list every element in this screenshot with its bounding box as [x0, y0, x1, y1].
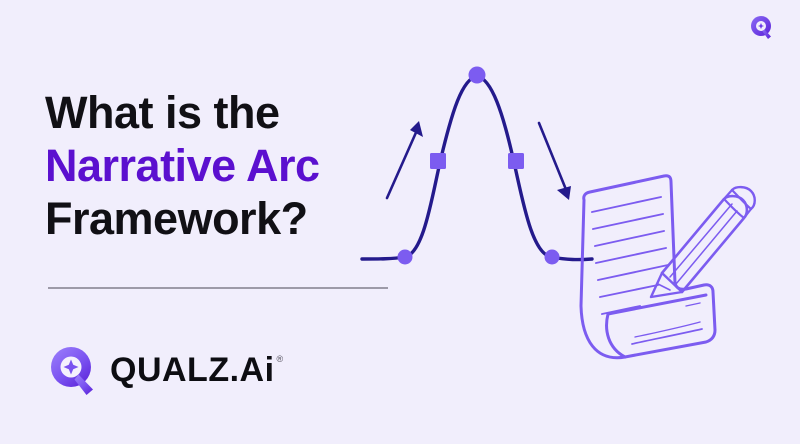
falling-arrow-icon — [539, 123, 571, 200]
marker-falling-action — [508, 153, 524, 169]
brand-logo-lockup: QUALZ.Ai ® — [48, 344, 284, 396]
narrative-arc-illustration — [340, 0, 800, 444]
marker-resolution — [545, 250, 560, 265]
headline-line-1: What is the — [45, 86, 320, 139]
headline-line-3: Framework? — [45, 192, 320, 245]
scroll-document-icon — [581, 176, 715, 358]
headline-line-2-accent: Narrative Arc — [45, 139, 320, 192]
marker-exposition — [398, 250, 413, 265]
divider — [48, 287, 388, 289]
brand-wordmark-text: QUALZ.Ai — [110, 353, 275, 387]
pencil-icon — [651, 187, 755, 297]
brand-wordmark: QUALZ.Ai ® — [110, 353, 284, 387]
rising-arrow-icon — [387, 121, 423, 198]
marker-climax — [469, 67, 486, 84]
page-title: What is the Narrative Arc Framework? — [45, 86, 320, 245]
marker-rising-action — [430, 153, 446, 169]
slide-canvas: What is the Narrative Arc Framework? — [0, 0, 800, 444]
trademark-symbol: ® — [277, 355, 284, 364]
qualz-q-sparkle-logo-icon — [48, 344, 100, 396]
